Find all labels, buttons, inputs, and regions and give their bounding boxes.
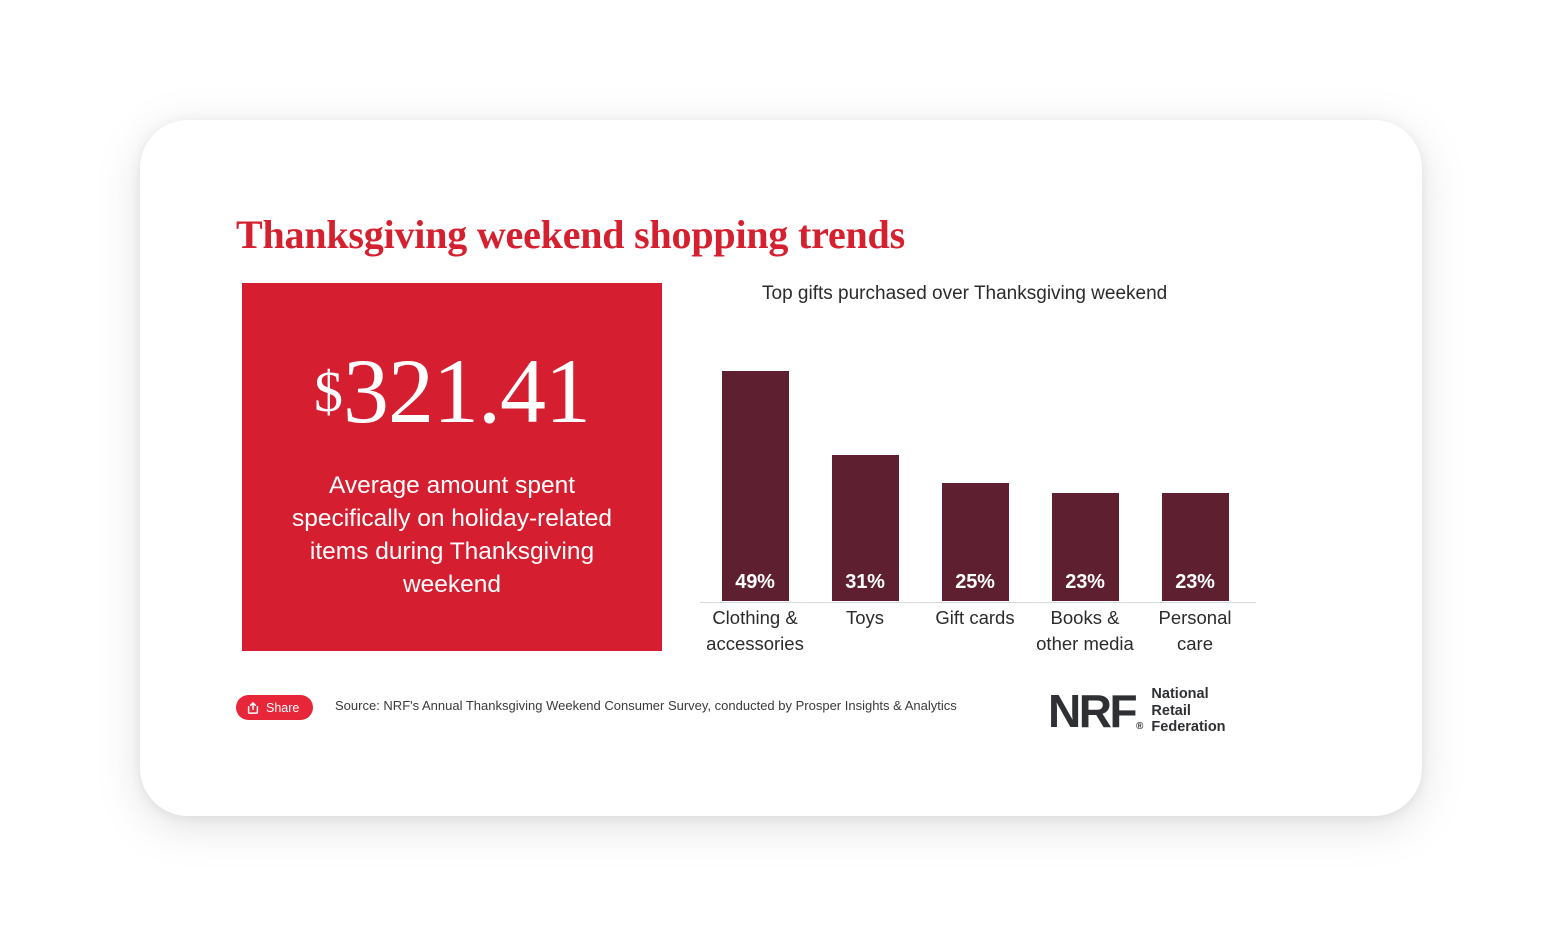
- stat-figure: $ 321.41: [314, 345, 590, 437]
- bar-value-label: 31%: [845, 571, 884, 601]
- share-export-icon: [246, 701, 260, 715]
- category-label: Books & other media: [1030, 605, 1140, 657]
- bar: 23%: [1162, 493, 1229, 601]
- bar: 49%: [722, 371, 789, 601]
- bar-value-label: 49%: [735, 571, 774, 601]
- category-label: Clothing & accessories: [700, 605, 810, 657]
- bar-slot: 25%: [920, 333, 1030, 601]
- card-footer: Share Source: NRF's Annual Thanksgiving …: [236, 686, 1346, 746]
- screenshot-stage: Thanksgiving weekend shopping trends $ 3…: [0, 0, 1554, 948]
- stat-panel: $ 321.41 Average amount spent specifical…: [242, 283, 662, 651]
- infographic-card: Thanksgiving weekend shopping trends $ 3…: [140, 120, 1422, 816]
- bar-slot: 23%: [1140, 333, 1250, 601]
- bar-chart: Top gifts purchased over Thanksgiving we…: [690, 283, 1310, 658]
- category-label: Gift cards: [920, 605, 1030, 657]
- share-button-label: Share: [266, 701, 299, 715]
- registered-trademark-icon: ®: [1136, 721, 1143, 732]
- bar-value-label: 23%: [1065, 571, 1104, 601]
- nrf-logo: NRF® National Retail Federation: [1048, 686, 1226, 736]
- chart-title: Top gifts purchased over Thanksgiving we…: [762, 283, 1167, 305]
- bar-slot: 49%: [700, 333, 810, 601]
- chart-category-labels: Clothing & accessoriesToysGift cardsBook…: [700, 605, 1280, 657]
- bar: 23%: [1052, 493, 1119, 601]
- chart-axis-line: [700, 602, 1256, 604]
- nrf-mark-text: NRF: [1048, 685, 1135, 737]
- nrf-full-name: National Retail Federation: [1151, 686, 1225, 736]
- nrf-wordmark: NRF®: [1048, 688, 1142, 734]
- bar-slot: 23%: [1030, 333, 1140, 601]
- category-label: Personal care: [1140, 605, 1250, 657]
- stat-value: 321.41: [343, 345, 590, 437]
- bar-series: 49%31%25%23%23%: [700, 333, 1280, 601]
- source-note: Source: NRF's Annual Thanksgiving Weeken…: [335, 698, 957, 713]
- bar: 31%: [832, 455, 899, 601]
- stat-caption: Average amount spent specifically on hol…: [287, 469, 617, 601]
- nrf-name-line-1: National: [1151, 686, 1225, 703]
- bar: 25%: [942, 483, 1009, 601]
- share-button[interactable]: Share: [236, 695, 313, 720]
- stat-currency-symbol: $: [314, 363, 343, 421]
- page-title: Thanksgiving weekend shopping trends: [236, 212, 905, 258]
- nrf-name-line-3: Federation: [1151, 719, 1225, 736]
- bar-value-label: 25%: [955, 571, 994, 601]
- category-label: Toys: [810, 605, 920, 657]
- bar-value-label: 23%: [1175, 571, 1214, 601]
- bar-slot: 31%: [810, 333, 920, 601]
- chart-plot-area: 49%31%25%23%23%: [690, 321, 1290, 603]
- nrf-name-line-2: Retail: [1151, 703, 1225, 720]
